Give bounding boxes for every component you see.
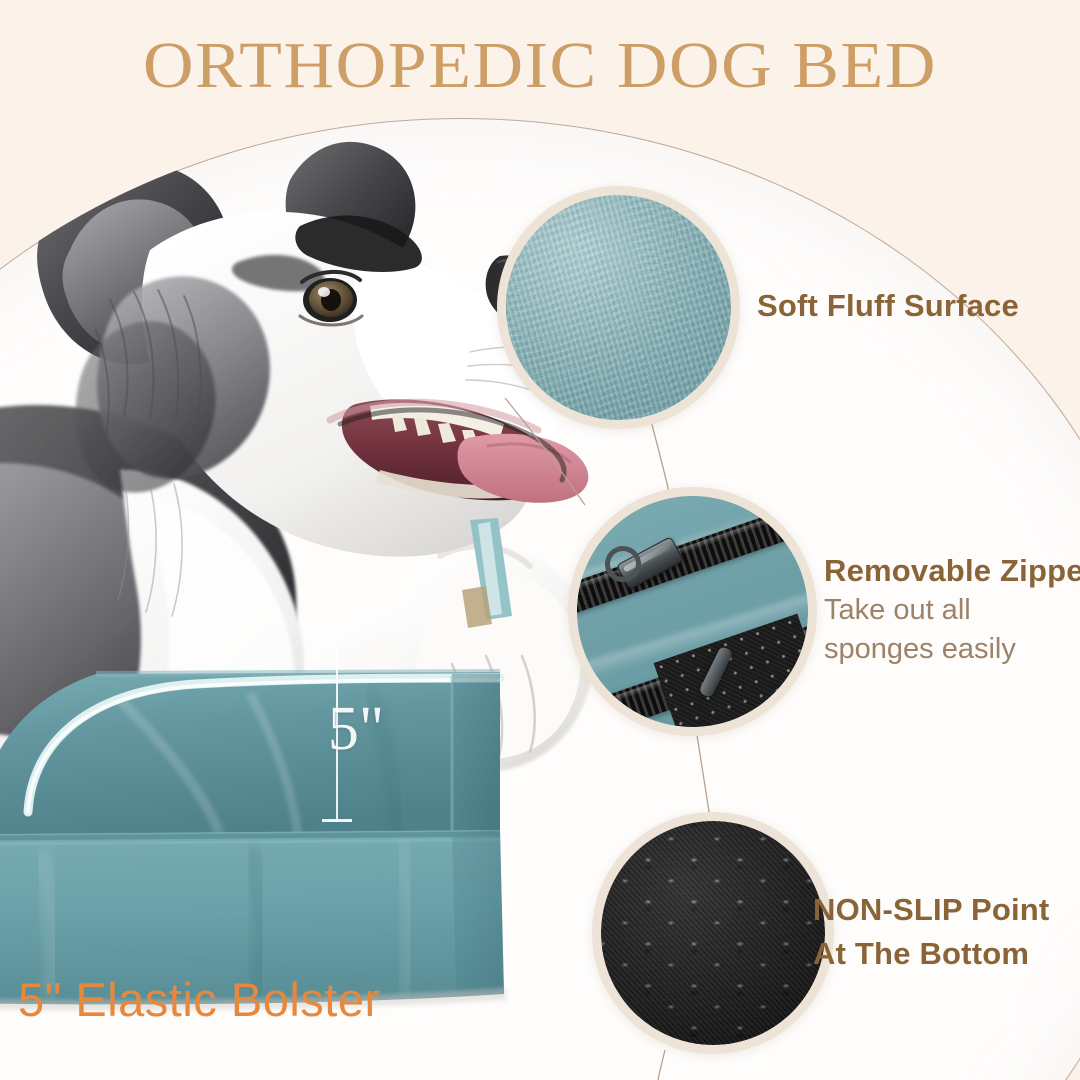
zipper-closeup-icon: [577, 496, 808, 727]
feature-heading-fluff: Soft Fluff Surface: [757, 286, 1019, 326]
callout-removable-zipper[interactable]: [568, 487, 817, 736]
feature-text-fluff: Soft Fluff Surface: [757, 286, 1019, 326]
callout-fluff-surface[interactable]: [497, 186, 740, 429]
infographic-canvas: ORTHOPEDIC DOG BED: [0, 0, 1080, 1080]
callout-nonslip-bottom[interactable]: [592, 812, 834, 1054]
feature-subtext-zipper: Take out all sponges easily: [824, 591, 1074, 669]
feature-text-nonslip: NON-SLIP Point At The Bottom: [813, 888, 1049, 976]
feature-heading-nonslip-line2: At The Bottom: [813, 932, 1049, 976]
feature-text-zipper: Removable Zipper Take out all sponges ea…: [824, 551, 1074, 669]
nonslip-dots-icon: [601, 821, 825, 1045]
feature-heading-nonslip-line1: NON-SLIP Point: [813, 888, 1049, 932]
feature-heading-zipper: Removable Zipper: [824, 551, 1074, 591]
fluff-texture-icon: [506, 195, 731, 420]
